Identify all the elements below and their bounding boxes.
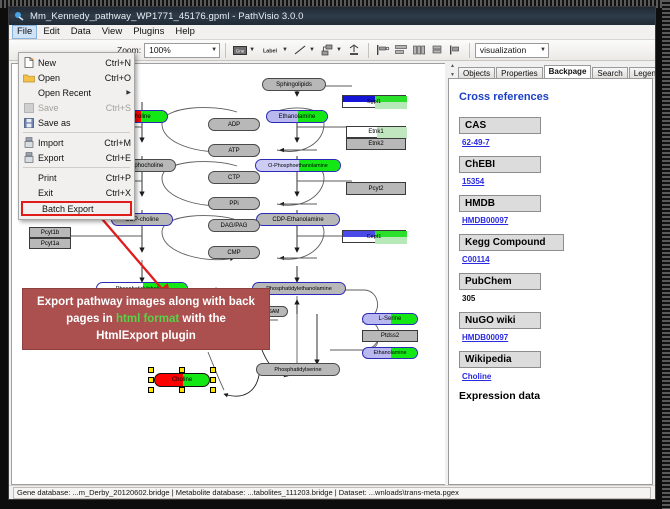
node-label: Pcyt1a — [41, 241, 59, 247]
annotation-callout: Export pathway images along with back pa… — [22, 288, 270, 350]
svg-text:Label: Label — [263, 49, 278, 55]
node-label: Ethanolamine — [374, 350, 407, 356]
node-sgpl1[interactable]: Sgpl1 — [342, 95, 406, 108]
node-label: PPi — [229, 201, 238, 207]
label-dropdown-icon[interactable]: ▼ — [282, 47, 288, 53]
node-pcyt2[interactable]: Pcyt2 — [346, 182, 406, 195]
menu-item-label: Open — [38, 73, 99, 83]
node-label: ADP — [228, 122, 240, 128]
pathvisio-icon — [14, 11, 25, 22]
xref-source-hmdb: HMDB — [459, 195, 541, 212]
callout-line-2-prefix: pages in — [66, 313, 116, 325]
node-label: Choline — [172, 377, 192, 383]
menu-item-label: Save — [38, 103, 100, 113]
callout-line-3: HtmlExport plugin — [96, 328, 196, 345]
node-pcyt1a[interactable]: Pcyt1a — [29, 238, 71, 249]
callout-line-2-suffix: with the — [179, 313, 226, 325]
import-icon — [22, 137, 36, 149]
xref-source-chebi: ChEBI — [459, 156, 541, 173]
xref-value-nugo-wiki[interactable]: HMDB00097 — [462, 333, 642, 342]
xref-value-hmdb[interactable]: HMDB00097 — [462, 216, 642, 225]
menu-item-accel: Ctrl+S — [100, 103, 131, 113]
backpage-content[interactable]: Cross references CAS 62-49-7 ChEBI 15354… — [448, 78, 653, 485]
node-atp[interactable]: ATP — [208, 144, 260, 157]
menu-item-export[interactable]: Export Ctrl+E — [19, 150, 134, 165]
line-button[interactable] — [292, 42, 308, 58]
menu-item-label: Batch Export — [42, 204, 127, 214]
menu-item-label: Export — [38, 153, 100, 163]
desktop-background: Mm_Kennedy_pathway_WP1771_45176.gpml - P… — [0, 0, 670, 509]
node-label: Sgpl1 — [367, 99, 381, 105]
distribute-button[interactable] — [411, 42, 427, 58]
menu-view[interactable]: View — [97, 25, 127, 39]
node-label: O-Phosphoethanolamine — [268, 163, 328, 169]
anchor-button[interactable] — [346, 42, 362, 58]
label-button[interactable]: Label — [259, 42, 281, 58]
node-label: ATP — [228, 148, 239, 154]
menu-file[interactable]: File — [12, 25, 37, 39]
xref-source-nugo-wiki: NuGO wiki — [459, 312, 541, 329]
menu-item-label: Print — [38, 173, 100, 183]
node-sphingolipids[interactable]: Sphingolipids — [262, 78, 326, 91]
toolbar-separator-1 — [225, 43, 226, 58]
menu-item-accel: Ctrl+P — [100, 173, 131, 183]
menu-item-save-as[interactable]: Save as — [19, 115, 134, 130]
export-icon — [22, 152, 36, 164]
node-cdp-ethanolamine[interactable]: CDP-Ethanolamine — [256, 213, 340, 226]
node-label: Ptdss2 — [381, 333, 399, 339]
node-label: Pcyt1b — [41, 230, 59, 236]
xref-value-cas[interactable]: 62-49-7 — [462, 138, 642, 147]
node-label: SAM — [269, 309, 280, 315]
menu-item-accel: Ctrl+N — [99, 58, 131, 68]
node-label: Etnk2 — [368, 141, 383, 147]
side-panel-tabstrip[interactable]: ▲ ▼ Objects Properties Backpage Search L… — [448, 63, 653, 78]
chevron-up-icon[interactable]: ▲ — [450, 64, 455, 69]
svg-text:Gne: Gne — [236, 48, 245, 53]
chevron-down-icon: ▼ — [540, 47, 546, 53]
save-icon — [22, 102, 36, 114]
status-bar-text: Gene database: ...m_Derby_20120602.bridg… — [13, 487, 651, 499]
node-ppi[interactable]: PPi — [208, 197, 260, 210]
node-cmp[interactable]: CMP — [208, 246, 260, 259]
xref-source-cas: CAS — [459, 117, 541, 134]
group-button[interactable] — [447, 42, 463, 58]
cross-references-heading: Cross references — [459, 91, 642, 103]
node-label: CMP — [227, 250, 240, 256]
menu-help[interactable]: Help — [170, 25, 200, 39]
zoom-value: 100% — [149, 45, 171, 55]
xref-value-chebi[interactable]: 15354 — [462, 177, 642, 186]
interaction-dropdown-icon[interactable]: ▼ — [336, 47, 342, 53]
toolbar-separator-3 — [469, 43, 470, 58]
menu-item-open[interactable]: Open Ctrl+O — [19, 70, 134, 85]
menu-data[interactable]: Data — [66, 25, 96, 39]
xref-value-wikipedia[interactable]: Choline — [462, 372, 642, 381]
menu-item-save: Save Ctrl+S — [19, 100, 134, 115]
side-panel: ▲ ▼ Objects Properties Backpage Search L… — [448, 63, 653, 485]
menu-bar[interactable]: File Edit Data View Plugins Help — [9, 25, 655, 40]
node-label: Sphingolipids — [276, 82, 312, 88]
menu-separator-2 — [23, 167, 130, 168]
node-label: Phosphatidylserine — [274, 367, 321, 373]
frame-hatch-right — [662, 0, 670, 509]
window-title: Mm_Kennedy_pathway_WP1771_45176.gpml - P… — [30, 11, 304, 22]
status-bar: Gene database: ...m_Derby_20120602.bridg… — [9, 485, 655, 499]
menu-item-print[interactable]: Print Ctrl+P — [19, 170, 134, 185]
blank-icon — [26, 203, 40, 215]
node-label: CDP-Ethanolamine — [272, 217, 323, 223]
node-cept1[interactable]: Cept1 — [342, 230, 406, 243]
pathvisio-window: Mm_Kennedy_pathway_WP1771_45176.gpml - P… — [8, 6, 656, 500]
node-label: DAG/PAG — [221, 223, 248, 229]
node-ethanolamine-2[interactable]: Ethanolamine — [362, 347, 418, 359]
expression-data-heading: Expression data — [459, 390, 642, 402]
zoom-combo[interactable]: 100% ▼ — [144, 43, 220, 58]
node-label: Phosphatidylethanolamine — [266, 286, 332, 292]
blank-icon — [22, 87, 36, 99]
xref-link-hmdb[interactable]: HMDB00097 — [462, 216, 508, 225]
menu-item-exit[interactable]: Exit Ctrl+X — [19, 185, 134, 200]
open-folder-icon — [22, 72, 36, 84]
menu-item-accel: Ctrl+E — [100, 153, 131, 163]
node-choline-selected[interactable]: Choline — [154, 373, 210, 387]
menu-item-batch-export[interactable]: Batch Export — [21, 201, 132, 216]
file-menu-dropdown[interactable]: New Ctrl+N Open Ctrl+O Open Recent ▶ Sav… — [18, 52, 135, 220]
node-ptdss2[interactable]: Ptdss2 — [362, 330, 418, 342]
save-as-icon — [22, 117, 36, 129]
align-vertical-button[interactable] — [393, 42, 409, 58]
line-dropdown-icon[interactable]: ▼ — [309, 47, 315, 53]
menu-edit[interactable]: Edit — [38, 25, 64, 39]
blank-icon — [22, 172, 36, 184]
menu-item-accel: Ctrl+X — [100, 188, 131, 198]
visualization-combo[interactable]: visualization ▼ — [475, 43, 549, 58]
xref-link-wikipedia[interactable]: Choline — [462, 372, 491, 381]
new-file-icon — [22, 57, 36, 69]
xref-source-kegg-compound: Kegg Compound — [459, 234, 564, 251]
tab-scroll-arrows[interactable]: ▲ ▼ — [448, 64, 457, 78]
node-ethanolamine[interactable]: Ethanolamine — [266, 110, 328, 123]
menu-plugins[interactable]: Plugins — [128, 25, 169, 39]
xref-link-cas[interactable]: 62-49-7 — [462, 138, 490, 147]
menu-item-label: New — [38, 58, 99, 68]
title-bar: Mm_Kennedy_pathway_WP1771_45176.gpml - P… — [9, 7, 655, 25]
xref-link-nugo[interactable]: HMDB00097 — [462, 333, 508, 342]
callout-line-2: pages in html format with the — [66, 311, 226, 328]
node-label: Cept1 — [367, 234, 382, 240]
node-o-phosphoethanolamine[interactable]: O-Phosphoethanolamine — [255, 159, 341, 172]
xref-link-chebi[interactable]: 15354 — [462, 177, 484, 186]
menu-item-label: Import — [38, 138, 98, 148]
menu-item-label: Save as — [38, 118, 125, 128]
blank-icon — [22, 187, 36, 199]
menu-item-accel: Ctrl+M — [98, 138, 131, 148]
menu-separator-1 — [23, 132, 130, 133]
node-phosphatidylserine[interactable]: Phosphatidylserine — [256, 363, 340, 376]
xref-link-kegg[interactable]: C00114 — [462, 255, 490, 264]
node-label: CTP — [228, 175, 240, 181]
callout-line-1: Export pathway images along with back — [37, 294, 255, 311]
toolbar-separator-2 — [368, 43, 369, 58]
stack-button[interactable] — [429, 42, 445, 58]
chevron-right-icon: ▶ — [126, 89, 131, 96]
callout-highlight: html format — [116, 313, 179, 325]
node-label: L-Serine — [379, 316, 402, 322]
tab-backpage[interactable]: Backpage — [544, 65, 592, 78]
xref-value-kegg-compound[interactable]: C00114 — [462, 255, 642, 264]
xref-source-pubchem: PubChem — [459, 273, 541, 290]
xref-source-wikipedia: Wikipedia — [459, 351, 541, 368]
menu-item-import[interactable]: Import Ctrl+M — [19, 135, 134, 150]
menu-item-accel: Ctrl+O — [99, 73, 131, 83]
chevron-down-icon: ▼ — [211, 47, 217, 53]
node-l-serine[interactable]: L-Serine — [362, 313, 418, 325]
node-dag-pag[interactable]: DAG/PAG — [208, 219, 260, 232]
datanode-dropdown-icon[interactable]: ▼ — [249, 47, 255, 53]
interaction-button[interactable] — [319, 42, 335, 58]
node-pcyt1b[interactable]: Pcyt1b — [29, 227, 71, 238]
xref-value-pubchem: 305 — [462, 294, 642, 303]
align-left-button[interactable] — [375, 42, 391, 58]
node-label: Pcyt2 — [368, 186, 383, 192]
visualization-value: visualization — [480, 45, 526, 55]
node-label: Ethanolamine — [279, 114, 316, 120]
datanode-button[interactable]: Gne — [232, 42, 248, 58]
menu-item-label: Open Recent — [38, 88, 126, 98]
node-label: Etnk1 — [368, 129, 383, 135]
node-etnk2[interactable]: Etnk2 — [346, 138, 406, 150]
node-adp[interactable]: ADP — [208, 118, 260, 131]
menu-item-label: Exit — [38, 188, 100, 198]
menu-item-new[interactable]: New Ctrl+N — [19, 55, 134, 70]
node-ctp[interactable]: CTP — [208, 171, 260, 184]
node-etnk1[interactable]: Etnk1 — [346, 126, 406, 138]
menu-item-open-recent[interactable]: Open Recent ▶ — [19, 85, 134, 100]
